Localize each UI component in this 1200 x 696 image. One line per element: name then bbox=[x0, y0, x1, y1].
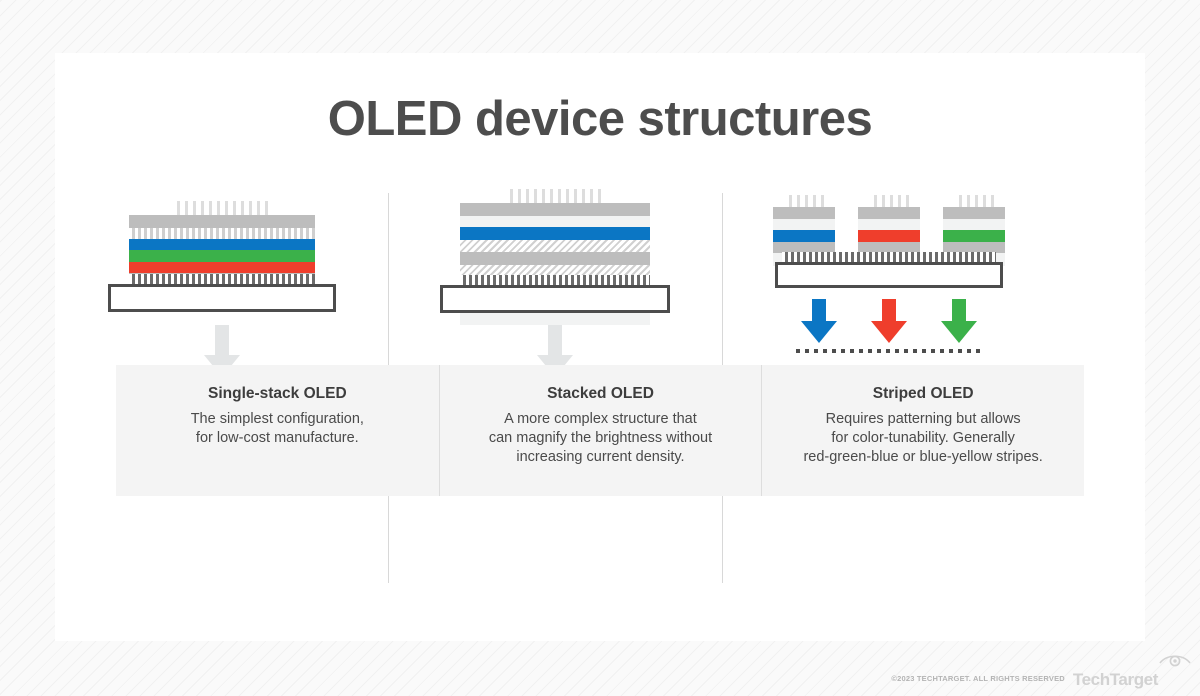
arrow-shaft bbox=[548, 325, 562, 355]
white-layer bbox=[943, 219, 1005, 230]
blue-emitter-layer bbox=[129, 239, 315, 250]
panel-title: Single-stack OLED bbox=[116, 385, 439, 403]
panel-title: Striped OLED bbox=[762, 385, 1084, 403]
emission-arrow-row bbox=[801, 299, 977, 343]
top-ticks-icon bbox=[869, 195, 909, 207]
charge-generation-layer bbox=[460, 240, 650, 252]
substrate-bracket bbox=[440, 285, 670, 313]
blue-emission-arrow bbox=[801, 299, 837, 343]
white-layer bbox=[773, 219, 835, 230]
top-ticks-icon bbox=[172, 201, 272, 215]
eye-icon bbox=[1158, 652, 1192, 670]
panel-body: Requires patterning but allows for color… bbox=[762, 410, 1084, 467]
arrow-shaft bbox=[952, 299, 966, 321]
cathode-layer bbox=[460, 203, 650, 216]
page-title: OLED device structures bbox=[55, 91, 1145, 147]
substrate-bracket bbox=[775, 262, 1003, 288]
cathode-layer bbox=[129, 215, 315, 228]
green-emitter-layer bbox=[943, 230, 1005, 242]
arrow-shaft bbox=[882, 299, 896, 321]
cathode-layer bbox=[773, 207, 835, 219]
white-layer bbox=[460, 216, 650, 227]
arrow-shaft bbox=[812, 299, 826, 321]
green-emission-arrow bbox=[941, 299, 977, 343]
cathode-layer bbox=[943, 207, 1005, 219]
panel-title: Stacked OLED bbox=[440, 385, 762, 403]
white-layer bbox=[858, 219, 920, 230]
footer: ©2023 TECHTARGET. ALL RIGHTS RESERVED Te… bbox=[891, 668, 1158, 688]
substrate-film-layer bbox=[460, 313, 650, 325]
green-emitter-layer bbox=[129, 250, 315, 262]
panel-body: A more complex structure that can magnif… bbox=[440, 410, 762, 467]
viewer-plane-dotted-line bbox=[796, 349, 982, 353]
panel-striped: Striped OLED Requires patterning but all… bbox=[761, 365, 1084, 496]
description-panels: Single-stack OLED The simplest configura… bbox=[116, 365, 1084, 496]
arrow-head bbox=[941, 321, 977, 343]
top-ticks-icon bbox=[784, 195, 824, 207]
blue-emitter-layer bbox=[773, 230, 835, 242]
comb-layer bbox=[129, 228, 315, 239]
arrow-head bbox=[801, 321, 837, 343]
infographic-page: OLED device structures bbox=[0, 0, 1200, 696]
techtarget-logo: TechTarget bbox=[1073, 670, 1158, 690]
panel-stacked: Stacked OLED A more complex structure th… bbox=[439, 365, 762, 496]
interlayer-gray bbox=[460, 252, 650, 265]
red-emission-arrow bbox=[871, 299, 907, 343]
cathode-layer bbox=[858, 207, 920, 219]
arrow-head bbox=[871, 321, 907, 343]
substrate-bracket bbox=[108, 284, 336, 312]
top-ticks-icon bbox=[954, 195, 994, 207]
red-emitter-layer bbox=[129, 262, 315, 273]
panel-single-stack: Single-stack OLED The simplest configura… bbox=[116, 365, 439, 496]
panel-body: The simplest configuration, for low-cost… bbox=[116, 410, 439, 448]
top-ticks-icon bbox=[505, 189, 605, 203]
arrow-shaft bbox=[215, 325, 229, 355]
red-emitter-layer bbox=[858, 230, 920, 242]
blue-emitter-layer bbox=[460, 227, 650, 240]
content-card: OLED device structures bbox=[55, 53, 1145, 641]
copyright-text: ©2023 TECHTARGET. ALL RIGHTS RESERVED bbox=[891, 674, 1065, 683]
